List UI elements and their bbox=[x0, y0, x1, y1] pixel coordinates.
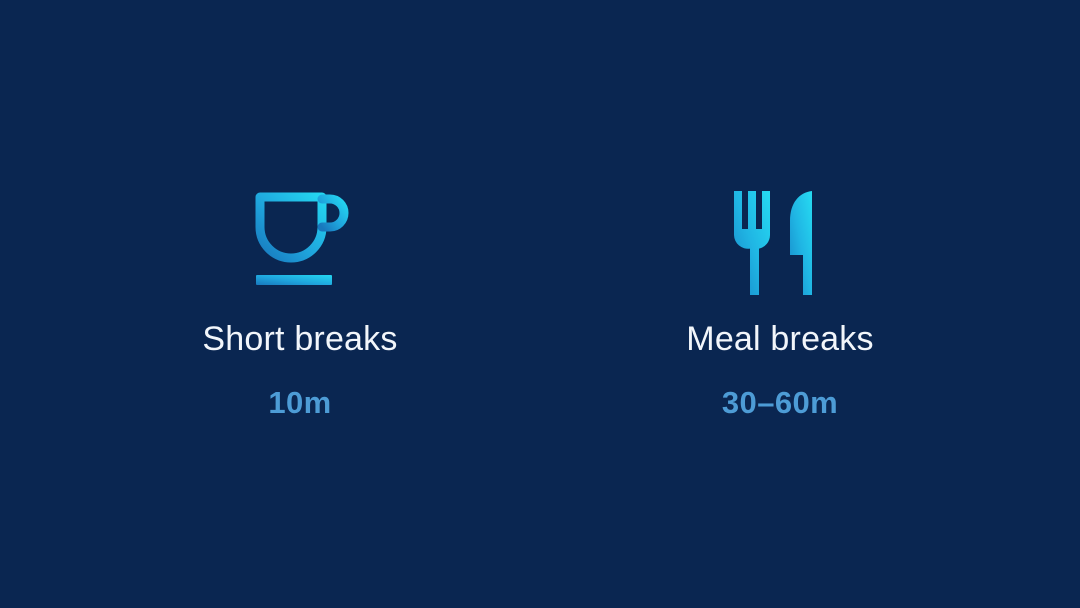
break-card-label: Short breaks bbox=[202, 322, 397, 356]
coffee-cup-icon bbox=[246, 170, 354, 295]
break-card-meal-breaks[interactable]: Meal breaks 30–60m bbox=[540, 170, 1020, 418]
slide-canvas: Short breaks 10m bbox=[0, 0, 1080, 608]
break-card-value: 30–60m bbox=[722, 387, 838, 418]
fork-and-knife-icon bbox=[726, 170, 834, 295]
break-card-short-breaks[interactable]: Short breaks 10m bbox=[60, 170, 540, 418]
fork-shape bbox=[734, 191, 770, 295]
break-card-label: Meal breaks bbox=[686, 322, 873, 356]
break-types-group: Short breaks 10m bbox=[0, 170, 1080, 418]
knife-shape bbox=[790, 191, 812, 295]
break-card-value: 10m bbox=[268, 387, 331, 418]
